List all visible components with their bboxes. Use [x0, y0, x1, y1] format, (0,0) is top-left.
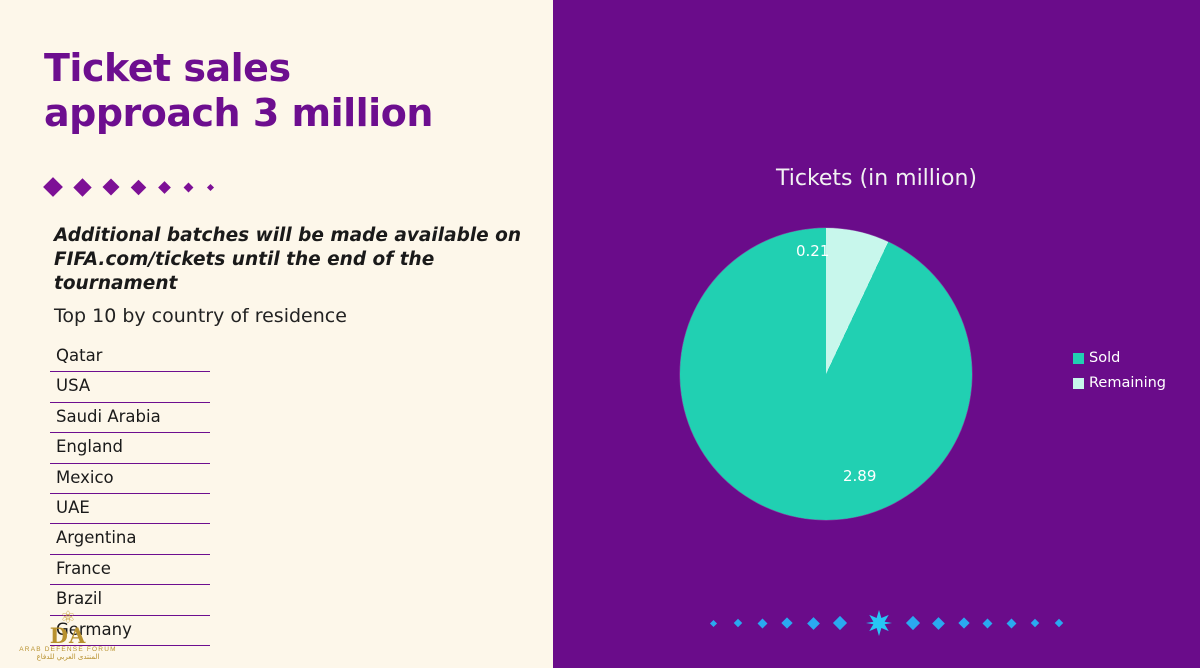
list-item: UAE	[50, 494, 210, 524]
right-panel: Tickets (in million) 0.21 2.89 Sold Rema…	[553, 0, 1200, 668]
legend-swatch-sold	[1073, 353, 1084, 364]
pagination-dot[interactable]	[781, 617, 792, 628]
pagination-dot[interactable]	[932, 617, 945, 630]
title-line-2: approach 3 million	[44, 91, 514, 136]
legend-label-sold: Sold	[1089, 350, 1120, 366]
list-item: USA	[50, 372, 210, 402]
list-item: Mexico	[50, 464, 210, 494]
pagination-dot[interactable]	[710, 619, 717, 626]
list-item: Argentina	[50, 524, 210, 554]
diamond-icon	[43, 177, 63, 197]
chart-title: Tickets (in million)	[553, 166, 1200, 191]
subtitle-line-3: tournament	[54, 272, 524, 296]
pagination-dot[interactable]	[958, 617, 969, 628]
chart-legend: Sold Remaining	[1073, 350, 1166, 400]
pie-label-remaining: 0.21	[796, 242, 829, 260]
pagination-dot[interactable]	[833, 616, 847, 630]
subtitle-line-1: Additional batches will be made availabl…	[54, 224, 524, 248]
title-line-1: Ticket sales	[44, 46, 514, 91]
subtitle-line-2: FIFA.com/tickets until the end of the	[54, 248, 524, 272]
list-item: Saudi Arabia	[50, 403, 210, 433]
watermark-mark: DA	[8, 626, 128, 646]
watermark-name: ARAB DEFENSE FORUM	[8, 646, 128, 653]
diamond-icon	[73, 178, 91, 196]
pie-slices	[680, 228, 972, 520]
country-list: Qatar USA Saudi Arabia England Mexico UA…	[50, 342, 210, 646]
subtitle-text: Additional batches will be made availabl…	[54, 224, 524, 296]
list-item: France	[50, 555, 210, 585]
top10-heading: Top 10 by country of residence	[54, 305, 474, 327]
slide-root: Ticket sales approach 3 million Addition…	[0, 0, 1200, 668]
pagination-dot[interactable]	[983, 618, 993, 628]
pie-label-sold: 2.89	[843, 467, 876, 485]
legend-item-sold: Sold	[1073, 350, 1166, 366]
watermark-arabic: المنتدى العربي للدفاع	[8, 653, 128, 661]
pagination-dot[interactable]	[807, 617, 820, 630]
pagination-active-star-icon[interactable]	[866, 610, 892, 636]
slide-pagination[interactable]	[553, 605, 1200, 641]
list-item: Qatar	[50, 342, 210, 372]
page-title: Ticket sales approach 3 million	[44, 46, 514, 136]
pagination-dot[interactable]	[758, 618, 768, 628]
pagination-dot[interactable]	[1031, 619, 1039, 627]
list-item: England	[50, 433, 210, 463]
pagination-dot[interactable]	[1007, 618, 1017, 628]
legend-label-remaining: Remaining	[1089, 375, 1166, 391]
pagination-dot[interactable]	[1055, 619, 1063, 627]
legend-swatch-remaining	[1073, 378, 1084, 389]
diamond-icon	[184, 182, 194, 192]
watermark: ⚛ DA ARAB DEFENSE FORUM المنتدى العربي ل…	[8, 610, 128, 666]
diamond-icon	[131, 179, 147, 195]
diamond-icon	[158, 181, 171, 194]
diamond-icon	[207, 183, 214, 190]
diamond-divider	[46, 180, 213, 194]
pagination-dot[interactable]	[906, 616, 920, 630]
legend-item-remaining: Remaining	[1073, 375, 1166, 391]
pagination-dot[interactable]	[734, 619, 742, 627]
left-panel: Ticket sales approach 3 million Addition…	[0, 0, 553, 668]
pie-chart: 0.21 2.89	[680, 228, 972, 520]
diamond-icon	[103, 179, 120, 196]
